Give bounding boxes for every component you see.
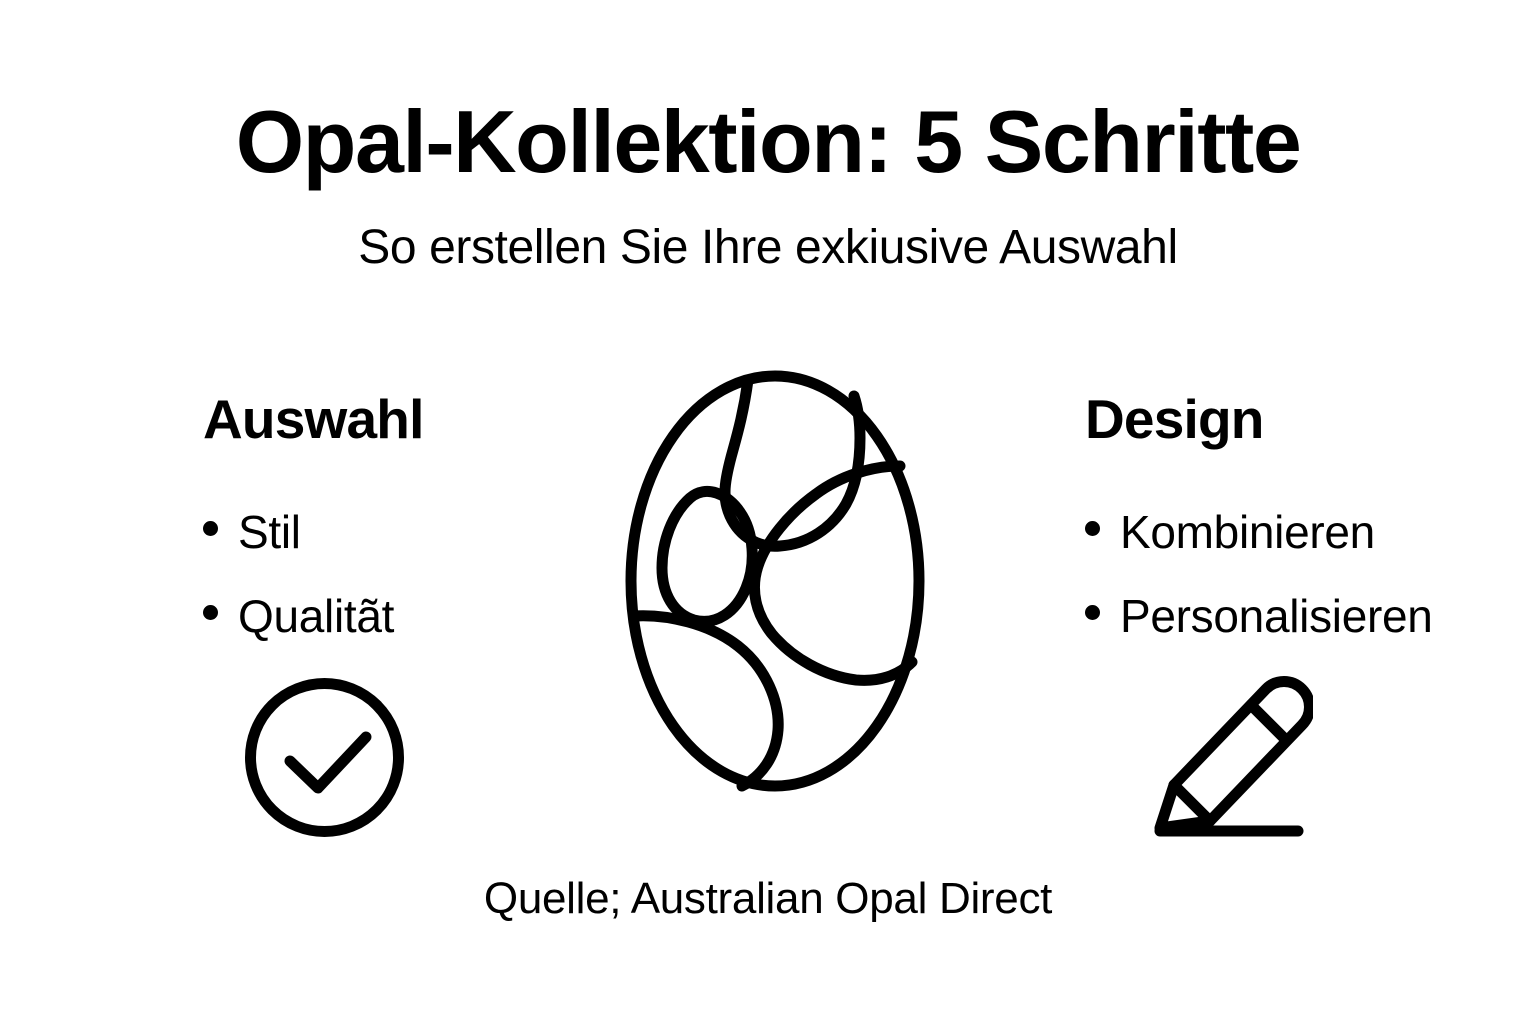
page-title: Opal-Kollektion: 5 Schritte: [0, 98, 1536, 186]
column-heading-design: Design: [1085, 392, 1515, 447]
check-circle-icon: [242, 675, 407, 840]
list-item-label: Qualitãt: [238, 593, 394, 639]
list-item-label: Stil: [238, 509, 301, 555]
footer: Quelle; Australian Opal Direct: [0, 877, 1536, 921]
column-auswahl: Auswahl Stil Qualitãt: [203, 392, 603, 677]
pencil-icon: [1138, 665, 1313, 850]
bullet-list-auswahl: Stil Qualitãt: [203, 447, 603, 639]
bullet-list-design: Kombinieren Personalisieren: [1085, 447, 1515, 639]
column-heading-auswahl: Auswahl: [203, 392, 603, 447]
list-item: Qualitãt: [203, 593, 603, 639]
column-design: Design Kombinieren Personalisieren: [1085, 392, 1515, 677]
bullet-dot-icon: [203, 605, 218, 620]
bullet-dot-icon: [203, 521, 218, 536]
header: Opal-Kollektion: 5 Schritte So erstellen…: [0, 98, 1536, 272]
list-item: Kombinieren: [1085, 509, 1515, 555]
source-caption: Quelle; Australian Opal Direct: [0, 877, 1536, 921]
bullet-dot-icon: [1085, 521, 1100, 536]
bullet-dot-icon: [1085, 605, 1100, 620]
list-item-label: Kombinieren: [1120, 509, 1375, 555]
opal-gemstone-icon: [620, 366, 930, 800]
list-item-label: Personalisieren: [1120, 593, 1433, 639]
list-item: Personalisieren: [1085, 593, 1515, 639]
page-subtitle: So erstellen Sie Ihre exkiusive Auswahl: [0, 186, 1536, 272]
list-item: Stil: [203, 509, 603, 555]
infographic-canvas: Opal-Kollektion: 5 Schritte So erstellen…: [0, 0, 1536, 1024]
